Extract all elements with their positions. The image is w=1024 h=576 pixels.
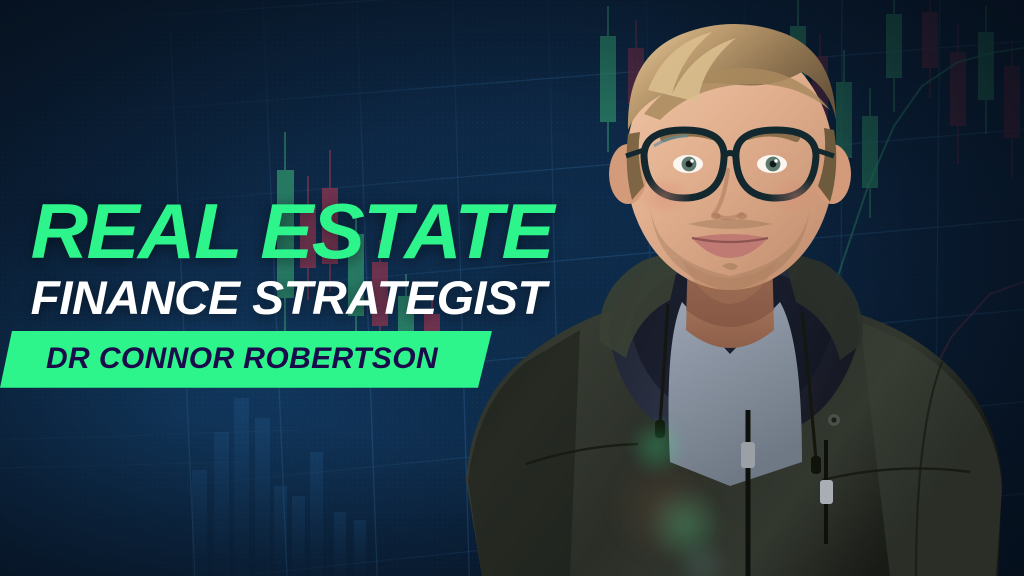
headline-secondary: FINANCE STRATEGIST xyxy=(0,274,653,321)
drawstring-tip-left xyxy=(655,420,665,438)
thumbnail-canvas: REAL ESTATE FINANCE STRATEGIST DR CONNOR… xyxy=(0,0,1024,576)
chest-pocket-pull xyxy=(820,480,833,504)
title-block: REAL ESTATE FINANCE STRATEGIST DR CONNOR… xyxy=(0,196,640,388)
zipper-pull xyxy=(741,442,755,468)
name-banner: DR CONNOR ROBERTSON xyxy=(0,331,500,388)
drawstring-tip-right xyxy=(811,456,821,474)
headline-primary: REAL ESTATE xyxy=(0,196,653,268)
name-banner-label: DR CONNOR ROBERTSON xyxy=(0,331,492,388)
